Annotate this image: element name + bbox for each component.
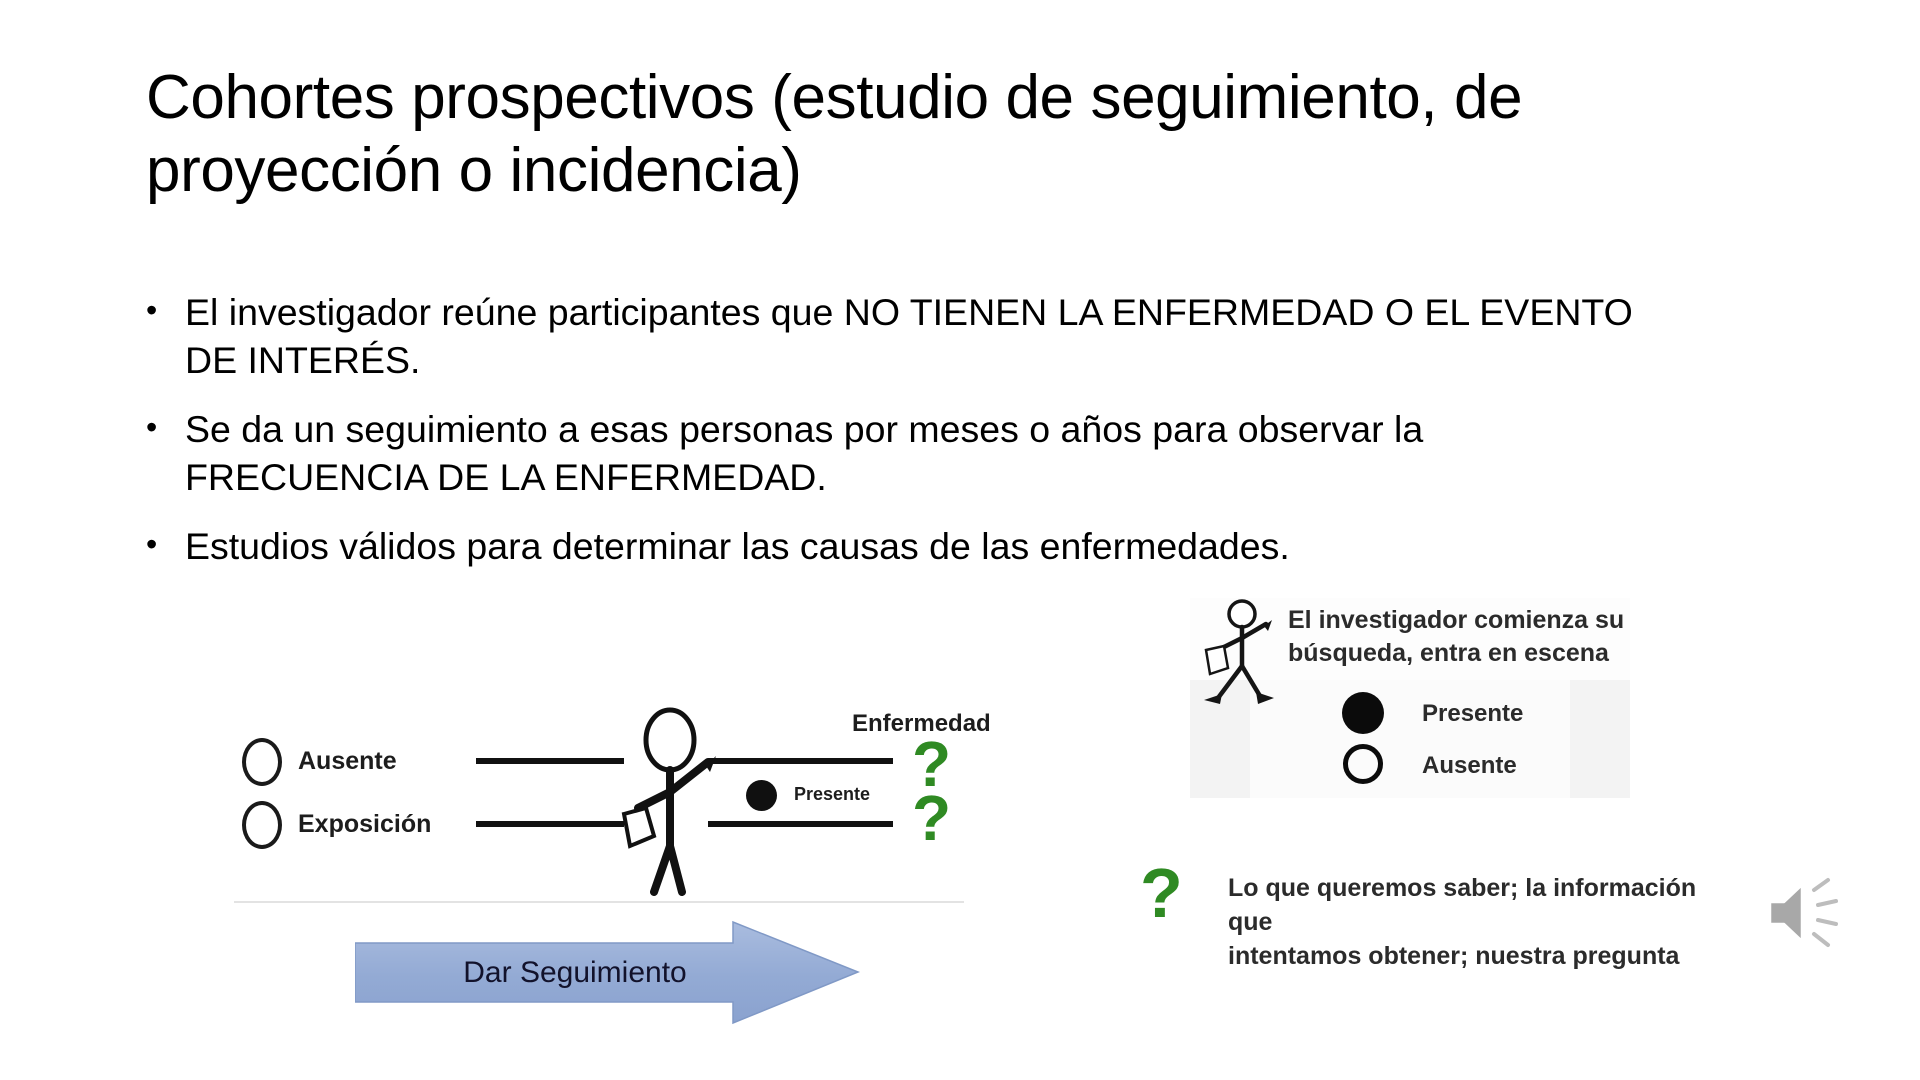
right-figure-caption: El investigador comienza su búsqueda, en… [1288, 604, 1624, 670]
slide-canvas: Cohortes prospectivos (estudio de seguim… [0, 0, 1920, 1080]
timeline-segment [708, 821, 893, 827]
timeline-segment [708, 758, 893, 764]
legend-caption-text: Lo que queremos saber; la información qu… [1228, 872, 1698, 973]
bullet-marker-icon: • [146, 288, 157, 334]
speaker-glyph-icon[interactable] [1762, 872, 1844, 954]
diagram-baseline [234, 901, 964, 903]
page-title: Cohortes prospectivos (estudio de seguim… [146, 62, 1706, 207]
filled-circle-presente-icon [746, 780, 777, 811]
panel-band-inner [1250, 680, 1570, 798]
right-figure-caption-line1: El investigador comienza su [1288, 604, 1624, 637]
arrow-label: Dar Seguimiento [355, 920, 795, 1025]
bullet-marker-icon: • [146, 522, 157, 568]
label-exposicion: Exposición [298, 810, 431, 839]
cohort-diagram-left: Ausente Exposición Presente Enfermedad ?… [228, 718, 968, 903]
researcher-stick-figure-icon [610, 696, 730, 896]
speaker-icon[interactable] [1762, 872, 1844, 954]
label-presente: Presente [1422, 700, 1523, 728]
open-circle-ausente-icon [1343, 744, 1383, 784]
researcher-walking-stick-figure-icon [1196, 598, 1288, 708]
green-question-mark-icon: ? [1140, 858, 1183, 928]
label-ausente: Ausente [1422, 752, 1517, 780]
timeline-segment [476, 758, 624, 764]
cohort-diagram-right: El investigador comienza su búsqueda, en… [1190, 598, 1630, 798]
green-question-mark-icon: ? [912, 790, 951, 848]
list-item: • Se da un seguimiento a esas personas p… [142, 405, 1672, 501]
open-circle-exposicion-icon [242, 801, 282, 849]
open-circle-ausente-icon [242, 738, 282, 786]
label-presente: Presente [794, 784, 870, 805]
list-item: • El investigador reúne participantes qu… [142, 288, 1672, 384]
list-item-text: Estudios válidos para determinar las cau… [185, 525, 1290, 567]
list-item: • Estudios válidos para determinar las c… [142, 522, 1672, 570]
dar-seguimiento-arrow: Dar Seguimiento [355, 920, 860, 1025]
legend-caption-line1: Lo que queremos saber; la información qu… [1228, 872, 1698, 940]
bullet-marker-icon: • [146, 405, 157, 451]
label-ausente: Ausente [298, 747, 397, 776]
filled-circle-presente-icon [1342, 692, 1384, 734]
list-item-text: Se da un seguimiento a esas personas por… [185, 408, 1423, 498]
bullet-list: • El investigador reúne participantes qu… [142, 288, 1672, 591]
list-item-text: El investigador reúne participantes que … [185, 291, 1633, 381]
right-figure-caption-line2: búsqueda, entra en escena [1288, 637, 1624, 670]
legend-question-caption: ? Lo que queremos saber; la información … [1140, 862, 1660, 972]
legend-caption-line2: intentamos obtener; nuestra pregunta [1228, 940, 1698, 974]
timeline-segment [476, 821, 624, 827]
